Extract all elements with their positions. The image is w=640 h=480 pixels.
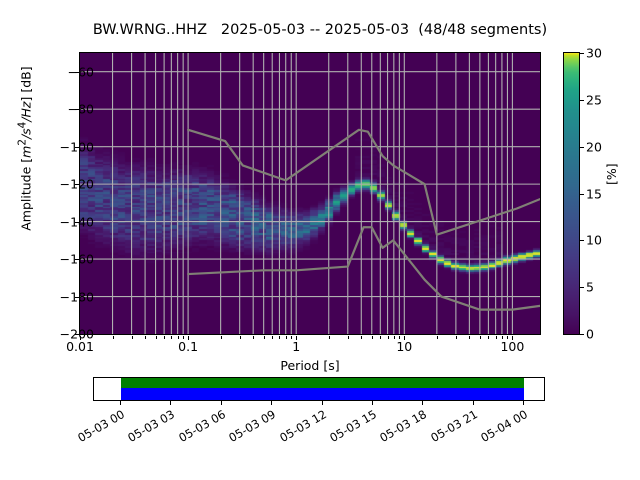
x-tick-mark-minor [469, 336, 470, 339]
x-tick-mark [296, 336, 297, 340]
x-tick-mark-minor [361, 336, 362, 339]
colorbar-tick-mark [580, 147, 584, 148]
x-tick-mark-minor [388, 336, 389, 339]
y-tick-label: −140 [34, 214, 94, 229]
colorbar-tick-mark [580, 287, 584, 288]
page-title: BW.WRNG..HHZ 2025-05-03 -- 2025-05-03 (4… [0, 22, 640, 38]
colorbar-tick-label: 20 [586, 139, 602, 154]
colorbar-tick-mark [580, 240, 584, 241]
x-tick-label: 0.1 [178, 339, 198, 354]
x-tick-label: 100 [500, 339, 524, 354]
y-axis-label: Amplitude [m2/s4/Hz] [dB] [16, 0, 33, 299]
y-tick-label: −180 [34, 289, 94, 304]
x-tick-mark-minor [380, 336, 381, 339]
y-tick-mark [75, 222, 79, 223]
x-tick-mark-minor [178, 336, 179, 339]
y-tick-mark [75, 147, 79, 148]
plot-gridlines [80, 53, 540, 334]
x-tick-mark-minor [145, 336, 146, 339]
x-tick-mark [188, 336, 189, 340]
coverage-timeline[interactable] [93, 377, 545, 401]
colorbar-tick-label: 10 [586, 233, 602, 248]
colorbar-tick-mark [580, 53, 584, 54]
x-axis-label: Period [s] [79, 358, 541, 373]
x-tick-mark-minor [156, 336, 157, 339]
x-tick-mark-minor [394, 336, 395, 339]
timeline-tick-mark [322, 401, 323, 405]
y-tick-mark [75, 334, 79, 335]
x-tick-mark-minor [291, 336, 292, 339]
colorbar-tick-label: 15 [586, 186, 602, 201]
x-tick-mark-minor [348, 336, 349, 339]
x-tick-mark-minor [329, 336, 330, 339]
timeline-tick-mark [372, 401, 373, 405]
x-tick-mark-minor [264, 336, 265, 339]
coverage-bar-segments [121, 388, 524, 401]
y-tick-mark [75, 297, 79, 298]
x-tick-mark [80, 336, 81, 340]
x-tick-mark-minor [488, 336, 489, 339]
x-tick-mark-minor [132, 336, 133, 339]
x-tick-mark-minor [113, 336, 114, 339]
y-tick-label: −160 [34, 252, 94, 267]
y-tick-mark [75, 184, 79, 185]
colorbar-tick-label: 25 [586, 92, 602, 107]
timeline-tick-mark [523, 401, 524, 405]
x-tick-mark-minor [279, 336, 280, 339]
timeline-tick-mark [170, 401, 171, 405]
colorbar-tick-mark [580, 334, 584, 335]
colorbar-tick-label: 5 [586, 280, 594, 295]
x-tick-mark-minor [183, 336, 184, 339]
x-tick-mark [512, 336, 513, 340]
colorbar[interactable] [563, 52, 580, 335]
x-tick-mark-minor [272, 336, 273, 339]
x-tick-mark-minor [164, 336, 165, 339]
x-tick-mark-minor [286, 336, 287, 339]
x-tick-mark-minor [399, 336, 400, 339]
y-tick-mark [75, 259, 79, 260]
x-tick-mark-minor [437, 336, 438, 339]
x-tick-mark-minor [372, 336, 373, 339]
timeline-tick-mark [120, 401, 121, 405]
colorbar-tick-label: 30 [586, 46, 602, 61]
x-tick-mark-minor [253, 336, 254, 339]
x-tick-mark-minor [496, 336, 497, 339]
y-tick-label: −80 [34, 102, 94, 117]
x-tick-mark-minor [240, 336, 241, 339]
y-tick-label: −120 [34, 177, 94, 192]
timeline-tick-mark [473, 401, 474, 405]
x-tick-label: 1 [292, 339, 300, 354]
x-tick-mark-minor [480, 336, 481, 339]
x-tick-mark-minor [221, 336, 222, 339]
x-tick-mark-minor [456, 336, 457, 339]
ppsd-figure: BW.WRNG..HHZ 2025-05-03 -- 2025-05-03 (4… [0, 0, 640, 480]
timeline-tick-mark [271, 401, 272, 405]
y-tick-label: −60 [34, 64, 94, 79]
x-tick-mark-minor [171, 336, 172, 339]
colorbar-tick-mark [580, 100, 584, 101]
timeline-tick-mark [221, 401, 222, 405]
colorbar-tick-mark [580, 194, 584, 195]
colorbar-label: [%] [604, 163, 619, 185]
x-tick-mark-minor [502, 336, 503, 339]
y-tick-mark [75, 109, 79, 110]
coverage-bar-data [121, 378, 524, 388]
x-tick-mark-minor [507, 336, 508, 339]
x-tick-mark [404, 336, 405, 340]
y-tick-label: −100 [34, 139, 94, 154]
colorbar-tick-label: 0 [586, 327, 594, 342]
x-tick-label: 10 [396, 339, 412, 354]
x-tick-label: 0.01 [66, 339, 94, 354]
timeline-tick-mark [422, 401, 423, 405]
y-tick-mark [75, 72, 79, 73]
ppsd-plot-area[interactable] [79, 52, 541, 335]
